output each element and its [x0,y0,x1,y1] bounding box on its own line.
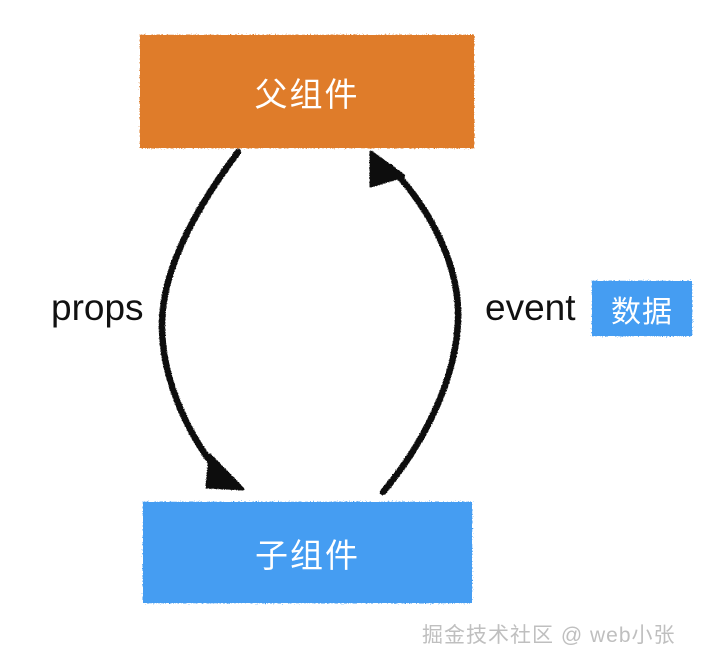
edge-label-event: event [485,287,576,329]
node-parent-component: 父组件 [140,35,474,148]
node-data-label: 数据 [611,287,673,331]
node-data-chip: 数据 [592,281,692,336]
node-child-component: 子组件 [143,502,472,603]
diagram-canvas: 父组件 子组件 数据 props event 掘金技术社区 @ web小张 [0,0,724,662]
node-child-label: 子组件 [255,529,360,577]
edge-label-props: props [51,287,144,329]
node-parent-label: 父组件 [255,68,360,116]
event-arrow [371,152,458,492]
watermark: 掘金技术社区 @ web小张 [422,619,676,649]
props-arrow [162,152,243,489]
